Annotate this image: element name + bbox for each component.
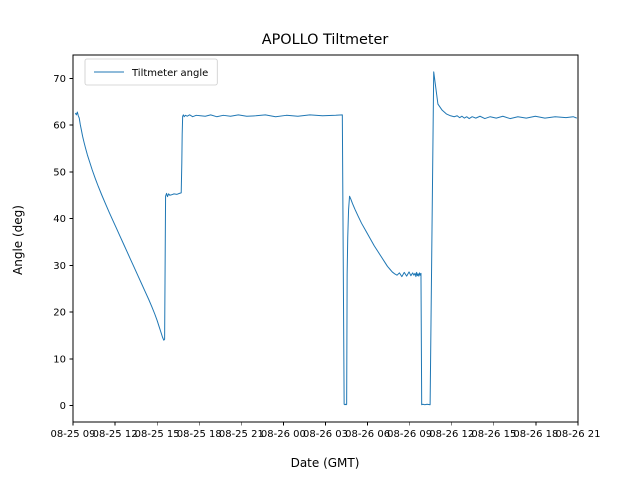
legend-entry-label: Tiltmeter angle: [131, 68, 208, 79]
y-tick-label: 60: [53, 121, 66, 132]
x-tick-label: 08-26 06: [345, 429, 390, 440]
x-tick-label: 08-25 18: [177, 429, 222, 440]
x-tick-label: 08-25 21: [219, 429, 264, 440]
y-tick-label: 0: [60, 401, 66, 412]
y-tick-label: 20: [53, 308, 66, 319]
y-tick-label: 50: [53, 167, 66, 178]
y-axis-label: Angle (deg): [11, 205, 25, 275]
y-tick-label: 30: [53, 261, 66, 272]
x-tick-label: 08-26 18: [513, 429, 558, 440]
x-tick-label: 08-26 00: [261, 429, 306, 440]
x-tick-label: 08-26 12: [429, 429, 474, 440]
matplotlib-figure: APOLLO Tiltmeter 010203040506070 08-25 0…: [0, 0, 640, 480]
x-tick-label: 08-26 21: [556, 429, 601, 440]
x-tick-label: 08-25 15: [135, 429, 180, 440]
y-tick-label: 10: [53, 354, 66, 365]
chart-title: APOLLO Tiltmeter: [262, 32, 389, 48]
y-tick-label: 70: [53, 74, 66, 85]
x-tick-label: 08-26 09: [387, 429, 432, 440]
x-tick-label: 08-26 03: [303, 429, 348, 440]
tiltmeter-line-chart: APOLLO Tiltmeter 010203040506070 08-25 0…: [0, 0, 640, 480]
x-tick-label: 08-26 15: [471, 429, 516, 440]
chart-legend[interactable]: Tiltmeter angle: [85, 59, 217, 85]
x-axis-label: Date (GMT): [291, 456, 360, 470]
x-tick-label: 08-25 09: [51, 429, 96, 440]
x-tick-label: 08-25 12: [93, 429, 138, 440]
y-tick-label: 40: [53, 214, 66, 225]
